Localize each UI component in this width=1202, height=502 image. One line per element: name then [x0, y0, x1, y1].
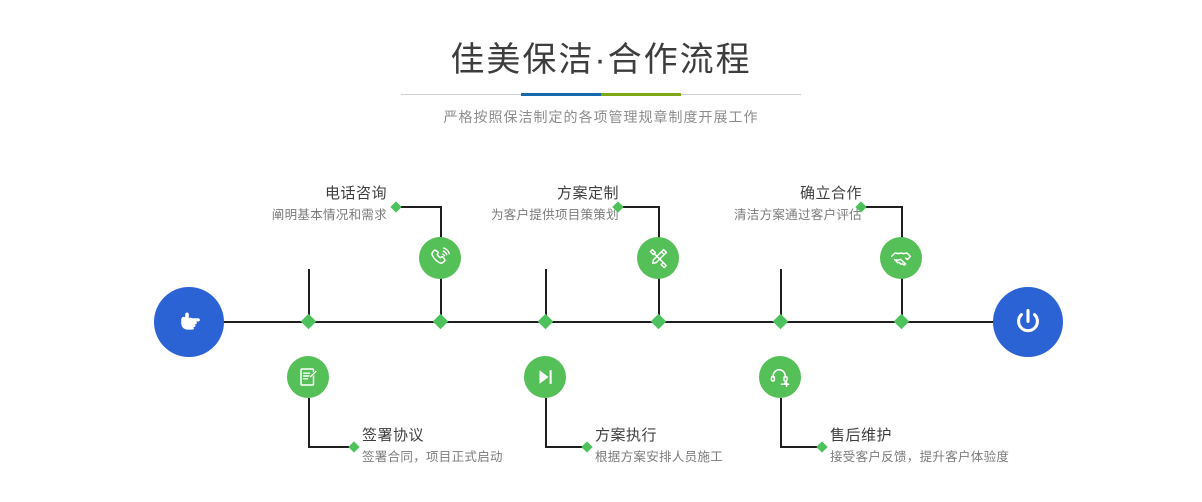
- step-label-establish-cooperation: 确立合作 清洁方案通过客户评估: [734, 184, 862, 224]
- play-skip-icon: [533, 365, 557, 389]
- step-node-phone-consult[interactable]: [419, 237, 461, 279]
- step-subtitle: 接受客户反馈，提升客户体验度: [830, 448, 1009, 466]
- connector-vertical-step2: [308, 398, 310, 448]
- page-subtitle: 严格按照保洁制定的各项管理规章制度开展工作: [0, 107, 1202, 127]
- pencil-ruler-icon: [646, 246, 670, 270]
- label-marker-step4: [581, 441, 592, 452]
- step-label-sign-agreement: 签署协议 签署合同，项目正式启动: [362, 426, 503, 466]
- axis-marker-4: [651, 314, 667, 330]
- axis-marker-6: [894, 314, 910, 330]
- page-header: 佳美保洁·合作流程 严格按照保洁制定的各项管理规章制度开展工作: [0, 0, 1202, 150]
- process-flow-diagram: 电话咨询 阐明基本情况和需求 签署协议 签署合同，项目正式启动: [0, 150, 1202, 502]
- axis-marker-3: [538, 314, 554, 330]
- step-title: 方案定制: [491, 184, 619, 204]
- power-button-icon: [1010, 304, 1046, 340]
- connector-horizontal-step1: [397, 206, 442, 208]
- label-marker-step6: [816, 441, 827, 452]
- step-node-after-sales[interactable]: [759, 356, 801, 398]
- step-title: 确立合作: [734, 184, 862, 204]
- step-node-establish-cooperation[interactable]: [880, 237, 922, 279]
- connector-horizontal-step3: [619, 206, 660, 208]
- label-marker-step1: [390, 201, 401, 212]
- axis-marker-2: [433, 314, 449, 330]
- step-subtitle: 清洁方案通过客户评估: [734, 206, 862, 224]
- step-subtitle: 为客户提供项目策策划: [491, 206, 619, 224]
- step-label-phone-consult: 电话咨询 阐明基本情况和需求: [272, 184, 387, 224]
- document-edit-icon: [296, 365, 320, 389]
- phone-call-icon: [428, 246, 452, 270]
- pointing-hand-icon: [172, 305, 206, 339]
- page-title: 佳美保洁·合作流程: [0, 38, 1202, 82]
- divider-segment-olive: [601, 93, 681, 96]
- connector-horizontal-step2: [308, 446, 353, 448]
- step-title: 电话咨询: [272, 184, 387, 204]
- step-title: 售后维护: [830, 426, 1009, 446]
- step-node-sign-agreement[interactable]: [287, 356, 329, 398]
- step-subtitle: 签署合同，项目正式启动: [362, 448, 503, 466]
- label-marker-step2: [348, 441, 359, 452]
- step-node-plan-customization[interactable]: [637, 237, 679, 279]
- customer-support-add-icon: [768, 365, 792, 389]
- flow-end-node[interactable]: [993, 287, 1063, 357]
- flow-start-node[interactable]: [154, 287, 224, 357]
- step-label-after-sales: 售后维护 接受客户反馈，提升客户体验度: [830, 426, 1009, 466]
- step-title: 签署协议: [362, 426, 503, 446]
- handshake-icon: [889, 246, 913, 270]
- connector-horizontal-step4: [545, 446, 586, 448]
- step-label-plan-execution: 方案执行 根据方案安排人员施工: [595, 426, 723, 466]
- step-node-plan-execution[interactable]: [524, 356, 566, 398]
- axis-marker-1: [301, 314, 317, 330]
- connector-vertical-step6: [780, 398, 782, 448]
- connector-horizontal-step5: [862, 206, 903, 208]
- divider-segment-blue: [521, 93, 601, 96]
- step-label-plan-customization: 方案定制 为客户提供项目策策划: [491, 184, 619, 224]
- step-subtitle: 阐明基本情况和需求: [272, 206, 387, 224]
- title-divider: [401, 93, 801, 96]
- step-title: 方案执行: [595, 426, 723, 446]
- connector-horizontal-step6: [780, 446, 821, 448]
- step-subtitle: 根据方案安排人员施工: [595, 448, 723, 466]
- connector-vertical-step4: [545, 398, 547, 448]
- axis-marker-5: [773, 314, 789, 330]
